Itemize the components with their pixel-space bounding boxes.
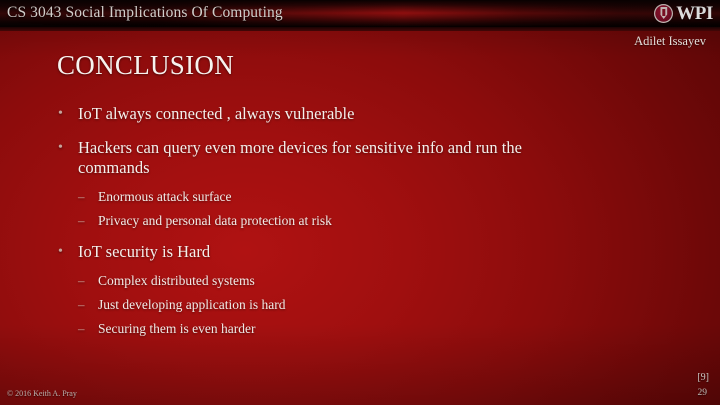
sub-bullet-text: Just developing application is hard <box>98 297 285 312</box>
slide-title: CONCLUSION <box>57 49 234 81</box>
bullet-marker-icon: • <box>58 138 63 158</box>
bullet-item: • IoT security is Hard <box>54 242 570 262</box>
wpi-wordmark: WPI <box>676 4 713 23</box>
sub-bullet-item: – Privacy and personal data protection a… <box>54 212 654 229</box>
sub-bullet-text: Privacy and personal data protection at … <box>98 213 332 228</box>
dash-marker-icon: – <box>78 296 85 313</box>
author-name: Adilet Issayev <box>634 33 706 49</box>
dash-marker-icon: – <box>78 212 85 229</box>
copyright-notice: © 2016 Keith A. Pray <box>7 389 77 399</box>
bullet-item: • Hackers can query even more devices fo… <box>54 138 570 178</box>
bullet-marker-icon: • <box>58 242 63 262</box>
bullet-text: IoT security is Hard <box>78 242 210 261</box>
sub-bullet-item: – Enormous attack surface <box>54 188 654 205</box>
bullet-text: IoT always connected , always vulnerable <box>78 104 354 123</box>
wpi-logo: WPI <box>654 2 713 24</box>
sub-bullet-group: – Complex distributed systems – Just dev… <box>54 272 654 337</box>
bullet-marker-icon: • <box>58 104 63 124</box>
wpi-seal-icon <box>654 4 673 23</box>
sub-bullet-item: – Complex distributed systems <box>54 272 654 289</box>
bullet-text: Hackers can query even more devices for … <box>78 138 522 177</box>
sub-bullet-item: – Just developing application is hard <box>54 296 654 313</box>
page-number: 29 <box>698 387 708 399</box>
sub-bullet-text: Complex distributed systems <box>98 273 255 288</box>
course-title: CS 3043 Social Implications Of Computing <box>7 3 283 23</box>
dash-marker-icon: – <box>78 320 85 337</box>
citation-reference: [9] <box>697 372 709 384</box>
presentation-slide: CS 3043 Social Implications Of Computing… <box>0 0 720 405</box>
sub-bullet-text: Securing them is even harder <box>98 321 255 336</box>
bullet-item: • IoT always connected , always vulnerab… <box>54 104 570 124</box>
slide-body: • IoT always connected , always vulnerab… <box>54 104 654 350</box>
sub-bullet-item: – Securing them is even harder <box>54 320 654 337</box>
sub-bullet-group: – Enormous attack surface – Privacy and … <box>54 188 654 229</box>
dash-marker-icon: – <box>78 272 85 289</box>
header-divider-rule <box>0 27 720 31</box>
sub-bullet-text: Enormous attack surface <box>98 189 231 204</box>
dash-marker-icon: – <box>78 188 85 205</box>
